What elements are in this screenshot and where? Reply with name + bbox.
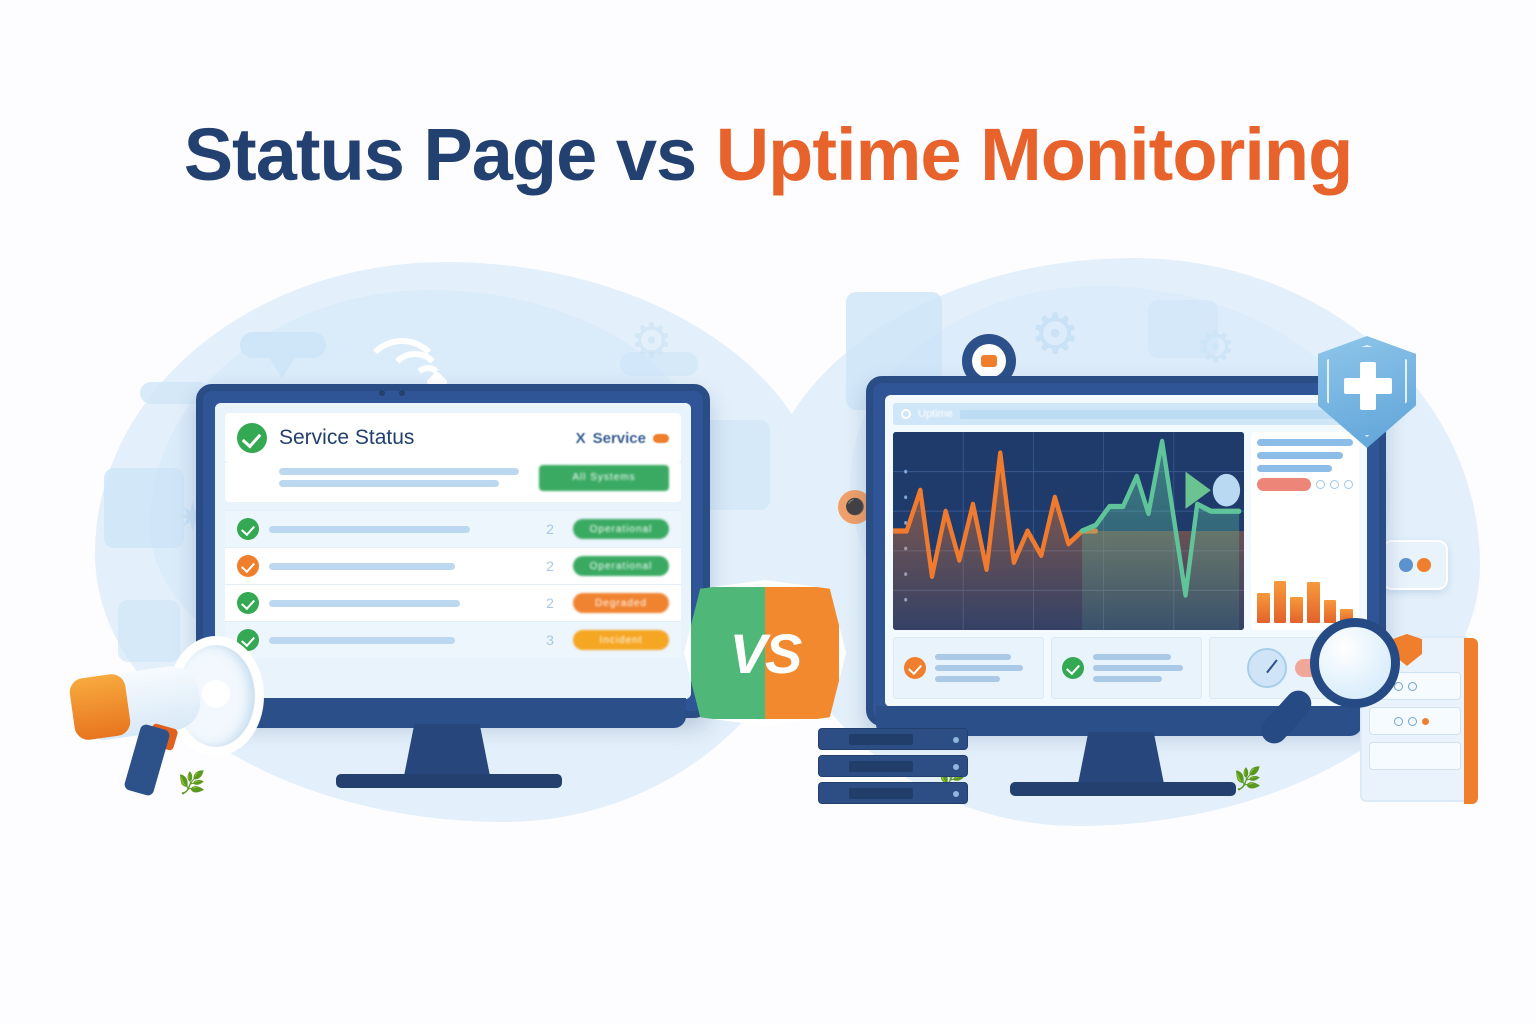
vs-badge-label: VS (684, 580, 846, 726)
status-page-brand: X Service (576, 430, 669, 447)
row-value: 2 (537, 595, 563, 611)
square-decoration (104, 468, 184, 548)
vs-badge: VS (684, 580, 846, 726)
brand-x-icon: X (576, 430, 586, 447)
rack-accent-bar (1464, 638, 1478, 804)
status-card-ok[interactable] (1051, 637, 1202, 699)
grass-decoration: 🌿 (1234, 768, 1261, 790)
bar (1274, 581, 1287, 623)
end-dot-marker (1213, 474, 1240, 507)
row-value: 2 (537, 558, 563, 574)
ring-icon (1344, 480, 1353, 489)
side-line (1257, 452, 1343, 459)
magnifier-icon (1288, 612, 1418, 752)
brand-label: Service (593, 430, 646, 447)
user-badge-icon (1382, 540, 1448, 590)
cloud-decoration (240, 332, 326, 358)
urlbar-circle-icon (901, 409, 911, 419)
status-card-warning[interactable] (893, 637, 1044, 699)
gear-decoration: ⚙ (1030, 306, 1080, 362)
urlbar-placeholder (960, 410, 1351, 419)
uptime-chart-svg (893, 432, 1244, 630)
side-line (1257, 439, 1353, 446)
illustration-canvas: ✷ ✷ ⚙ ⚙ ⚙ 🌿 🌿 🌿 Status Page vs Uptime Mo… (0, 0, 1536, 1024)
row-value: 3 (537, 632, 563, 648)
left-monitor-neck (404, 724, 490, 776)
uptime-chart (893, 432, 1244, 630)
bar (1257, 593, 1270, 623)
chart-side-panel (1251, 432, 1359, 630)
side-line (1257, 465, 1332, 472)
brand-dot-icon (653, 434, 669, 443)
panel-decoration (1148, 300, 1218, 358)
card-status-icon-ok (1062, 657, 1084, 679)
row-badge: Incident (573, 630, 669, 650)
row-status-icon-ok (237, 518, 259, 540)
monitoring-body (893, 432, 1359, 630)
all-systems-button[interactable]: All Systems (539, 465, 669, 491)
panel-decoration (700, 420, 770, 510)
title-part-status-page: Status Page vs (184, 113, 716, 196)
row-value: 2 (537, 521, 563, 537)
left-monitor-base (336, 774, 562, 788)
row-badge: Degraded (573, 593, 669, 613)
title-part-uptime-monitoring: Uptime Monitoring (716, 113, 1353, 196)
ring-icon (1330, 480, 1339, 489)
status-page-header: Service Status X Service (225, 413, 681, 463)
megaphone-icon (60, 628, 310, 823)
row-badge: Operational (573, 519, 669, 539)
right-monitor-neck (1078, 732, 1164, 784)
row-badge: Operational (573, 556, 669, 576)
table-row[interactable]: 2 Operational (225, 547, 681, 584)
status-page-title: Service Status (279, 426, 414, 450)
speed-gauge-icon (1247, 648, 1287, 688)
card-status-icon-warning (904, 657, 926, 679)
row-status-icon-warning (237, 555, 259, 577)
page-title: Status Page vs Uptime Monitoring (0, 118, 1536, 192)
pin-decoration (268, 356, 296, 378)
right-monitor-base (1010, 782, 1236, 796)
server-stack-icon (818, 728, 968, 806)
gear-decoration: ⚙ (630, 318, 673, 366)
alert-pill (1257, 478, 1311, 491)
browser-urlbar[interactable]: Uptime (893, 403, 1359, 425)
table-row[interactable]: 2 Degraded (225, 584, 681, 621)
row-status-icon-ok (237, 592, 259, 614)
header-check-icon (237, 423, 267, 453)
ring-icon (1316, 480, 1325, 489)
side-pill-row (1257, 478, 1353, 491)
table-row[interactable]: 2 Operational (225, 510, 681, 547)
urlbar-text: Uptime (918, 408, 953, 420)
